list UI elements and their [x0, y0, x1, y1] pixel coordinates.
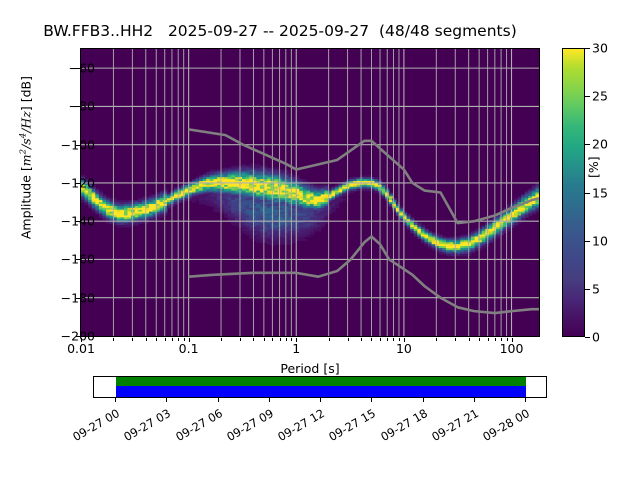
density-cell — [446, 254, 450, 257]
density-cell — [274, 242, 278, 245]
x-tick-mark — [479, 338, 480, 341]
density-cell — [396, 214, 400, 217]
density-cell — [467, 254, 471, 257]
density-cell — [231, 223, 235, 226]
density-cell — [238, 225, 242, 228]
timeline-tick-mark — [474, 398, 475, 402]
x-tick-label: 100 — [500, 341, 524, 356]
y-tick-label: −140 — [35, 214, 95, 229]
density-cell — [199, 202, 203, 205]
density-cell — [306, 235, 310, 238]
density-cell — [475, 248, 479, 251]
y-tick-mark — [76, 259, 80, 260]
density-cell — [289, 242, 293, 245]
colorbar-tick-mark — [585, 337, 590, 338]
x-tick-mark — [296, 338, 297, 342]
density-cell — [249, 237, 253, 240]
density-cell — [81, 200, 85, 203]
x-tick-mark — [286, 338, 287, 341]
x-tick-mark — [329, 338, 330, 341]
density-cell — [389, 204, 393, 207]
x-tick-mark — [113, 338, 114, 341]
x-tick-mark — [156, 338, 157, 341]
timeline-tick-label: 09-27 15 — [316, 406, 378, 450]
colorbar — [562, 48, 585, 337]
x-tick-mark — [512, 338, 513, 342]
density-cell — [464, 254, 468, 257]
density-cell — [246, 233, 250, 236]
density-cell — [450, 254, 454, 257]
density-cell — [417, 237, 421, 240]
y-tick-label: −180 — [35, 290, 95, 305]
x-tick-mark — [165, 338, 166, 341]
density-cell — [224, 215, 228, 218]
timeline-tick-mark — [218, 398, 219, 402]
segment-timeline — [93, 376, 547, 398]
density-cell — [432, 248, 436, 251]
density-cell — [167, 206, 171, 209]
x-tick-mark — [436, 338, 437, 341]
x-tick-mark — [399, 338, 400, 341]
ppsd-figure: BW.FFB3..HH2 2025-09-27 -- 2025-09-27 (4… — [0, 0, 640, 480]
x-tick-label: 0.1 — [179, 341, 199, 356]
x-tick-mark — [404, 338, 405, 342]
density-cell — [156, 217, 160, 220]
density-cell — [331, 210, 335, 213]
density-cell — [213, 210, 217, 213]
plot-title: BW.FFB3..HH2 2025-09-27 -- 2025-09-27 (4… — [0, 22, 560, 40]
x-tick-mark — [507, 338, 508, 341]
density-cell — [496, 237, 500, 240]
density-cell — [299, 238, 303, 241]
density-cell — [303, 238, 307, 241]
timeline-tick-label: 09-27 12 — [265, 406, 327, 450]
x-tick-mark — [132, 338, 133, 341]
density-cell — [88, 206, 92, 209]
density-cell — [256, 240, 260, 243]
colorbar-tick-mark — [585, 241, 590, 242]
density-cell — [535, 210, 539, 213]
x-tick-mark — [501, 338, 502, 341]
density-cell — [525, 215, 529, 218]
x-tick-mark — [348, 338, 349, 341]
colorbar-label: [%] — [586, 118, 601, 178]
density-cell — [335, 206, 339, 209]
noise-model-curve — [189, 237, 539, 314]
density-cell — [203, 202, 207, 205]
density-cell — [460, 254, 464, 257]
x-tick-mark — [184, 338, 185, 341]
density-cell — [367, 189, 371, 192]
x-tick-mark — [371, 338, 372, 341]
density-cell — [206, 204, 210, 207]
density-cell — [442, 252, 446, 255]
colorbar-tick-mark — [585, 48, 590, 49]
x-tick-mark — [495, 338, 496, 341]
x-tick-mark — [291, 338, 292, 341]
x-tick-mark — [455, 338, 456, 341]
density-cell — [210, 204, 214, 207]
density-cell — [339, 200, 343, 203]
density-cell — [117, 225, 121, 228]
density-cell — [410, 231, 414, 234]
x-tick-mark — [253, 338, 254, 341]
density-cell — [99, 215, 103, 218]
colorbar-tick-label: 5 — [592, 281, 600, 296]
density-cell — [120, 225, 124, 228]
density-cell — [135, 223, 139, 226]
density-cell — [317, 229, 321, 232]
y-tick-label: −60 — [35, 61, 95, 76]
density-cell — [342, 194, 346, 197]
density-cell — [281, 242, 285, 245]
density-cell — [364, 189, 368, 192]
colorbar-tick-mark — [585, 289, 590, 290]
colorbar-tick-label: 25 — [592, 89, 608, 104]
x-tick-mark — [488, 338, 489, 341]
density-cell — [95, 212, 99, 215]
x-tick-mark — [264, 338, 265, 341]
density-cell — [425, 244, 429, 247]
y-tick-mark — [76, 298, 80, 299]
density-cell — [407, 227, 411, 230]
density-cell — [507, 229, 511, 232]
density-cell — [439, 252, 443, 255]
x-tick-mark — [393, 338, 394, 341]
timeline-tick-mark — [115, 398, 116, 402]
x-tick-mark — [469, 338, 470, 341]
density-cell — [303, 235, 307, 238]
density-cell — [314, 229, 318, 232]
density-cell — [128, 225, 132, 228]
x-tick-mark — [172, 338, 173, 341]
colorbar-tick-label: 10 — [592, 233, 608, 248]
timeline-tick-mark — [166, 398, 167, 402]
y-tick-mark — [76, 183, 80, 184]
x-tick-mark — [240, 338, 241, 341]
density-cell — [174, 202, 178, 205]
density-cell — [267, 242, 271, 245]
timeline-tick-label: 09-28 00 — [470, 406, 532, 450]
density-cell — [170, 204, 174, 207]
x-tick-mark — [280, 338, 281, 341]
density-cell — [349, 191, 353, 194]
density-cell — [421, 240, 425, 243]
y-tick-mark — [76, 68, 80, 69]
x-tick-label: 0.01 — [67, 341, 95, 356]
density-cell — [292, 240, 296, 243]
timeline-tick-mark — [269, 398, 270, 402]
colorbar-tick-mark — [585, 96, 590, 97]
timeline-tick-label: 09-27 03 — [111, 406, 173, 450]
ppsd-plot-area — [80, 48, 540, 337]
density-cell — [489, 240, 493, 243]
density-cell — [353, 189, 357, 192]
timeline-tick-label: 09-27 00 — [60, 406, 122, 450]
density-cell — [235, 223, 239, 226]
timeline-tick-mark — [423, 398, 424, 402]
density-cell — [428, 246, 432, 249]
density-cell — [163, 214, 167, 217]
density-cell — [382, 196, 386, 199]
density-cell — [310, 233, 314, 236]
timeline-tick-label: 09-27 09 — [213, 406, 275, 450]
density-cell — [124, 225, 128, 228]
x-tick-mark — [189, 338, 190, 342]
density-cell — [514, 223, 518, 226]
density-cell — [196, 198, 200, 201]
density-cell — [532, 212, 536, 215]
density-cell — [85, 202, 89, 205]
x-axis-label: Period [s] — [80, 361, 540, 376]
density-cell — [92, 210, 96, 213]
y-tick-mark — [76, 336, 80, 337]
y-tick-label: −120 — [35, 175, 95, 190]
y-tick-label: −100 — [35, 137, 95, 152]
density-cell — [528, 214, 532, 217]
density-cell — [321, 225, 325, 228]
y-tick-label: −160 — [35, 252, 95, 267]
density-cell — [102, 217, 106, 220]
density-cell — [457, 254, 461, 257]
x-tick-mark — [387, 338, 388, 341]
density-cell — [160, 215, 164, 218]
colorbar-tick-label: 15 — [592, 185, 608, 200]
density-cell — [392, 210, 396, 213]
timeline-bar-green — [116, 377, 526, 386]
x-tick-mark — [221, 338, 222, 341]
y-tick-mark — [76, 145, 80, 146]
x-tick-mark — [361, 338, 362, 341]
x-tick-mark — [178, 338, 179, 341]
x-tick-mark — [272, 338, 273, 341]
y-tick-mark — [76, 221, 80, 222]
colorbar-tick-label: 30 — [592, 41, 608, 56]
y-axis-label: Amplitude [m2/s4/Hz] [dB] — [18, 28, 33, 288]
x-tick-mark — [81, 338, 82, 342]
timeline-tick-mark — [525, 398, 526, 402]
density-cell — [374, 191, 378, 194]
timeline-tick-mark — [320, 398, 321, 402]
density-cell — [500, 233, 504, 236]
density-cell — [242, 231, 246, 234]
density-cell — [482, 246, 486, 249]
timeline-bar-blue — [116, 386, 526, 397]
density-cell — [342, 198, 346, 201]
timeline-tick-mark — [371, 398, 372, 402]
x-tick-mark — [146, 338, 147, 341]
density-cell — [131, 223, 135, 226]
timeline-tick-label: 09-27 21 — [418, 406, 480, 450]
density-cell — [471, 250, 475, 253]
density-cell — [217, 210, 221, 213]
x-tick-label: 1 — [292, 341, 300, 356]
timeline-tick-label: 09-27 06 — [162, 406, 224, 450]
density-cell — [192, 200, 196, 203]
y-tick-mark — [76, 106, 80, 107]
density-cell — [414, 235, 418, 238]
density-cell — [357, 189, 361, 192]
colorbar-tick-mark — [585, 193, 590, 194]
x-tick-mark — [380, 338, 381, 341]
timeline-tick-label: 09-27 18 — [367, 406, 429, 450]
colorbar-tick-label: 0 — [592, 330, 600, 345]
x-tick-label: 10 — [396, 341, 412, 356]
y-tick-label: −80 — [35, 99, 95, 114]
ppsd-density-canvas — [81, 49, 539, 336]
